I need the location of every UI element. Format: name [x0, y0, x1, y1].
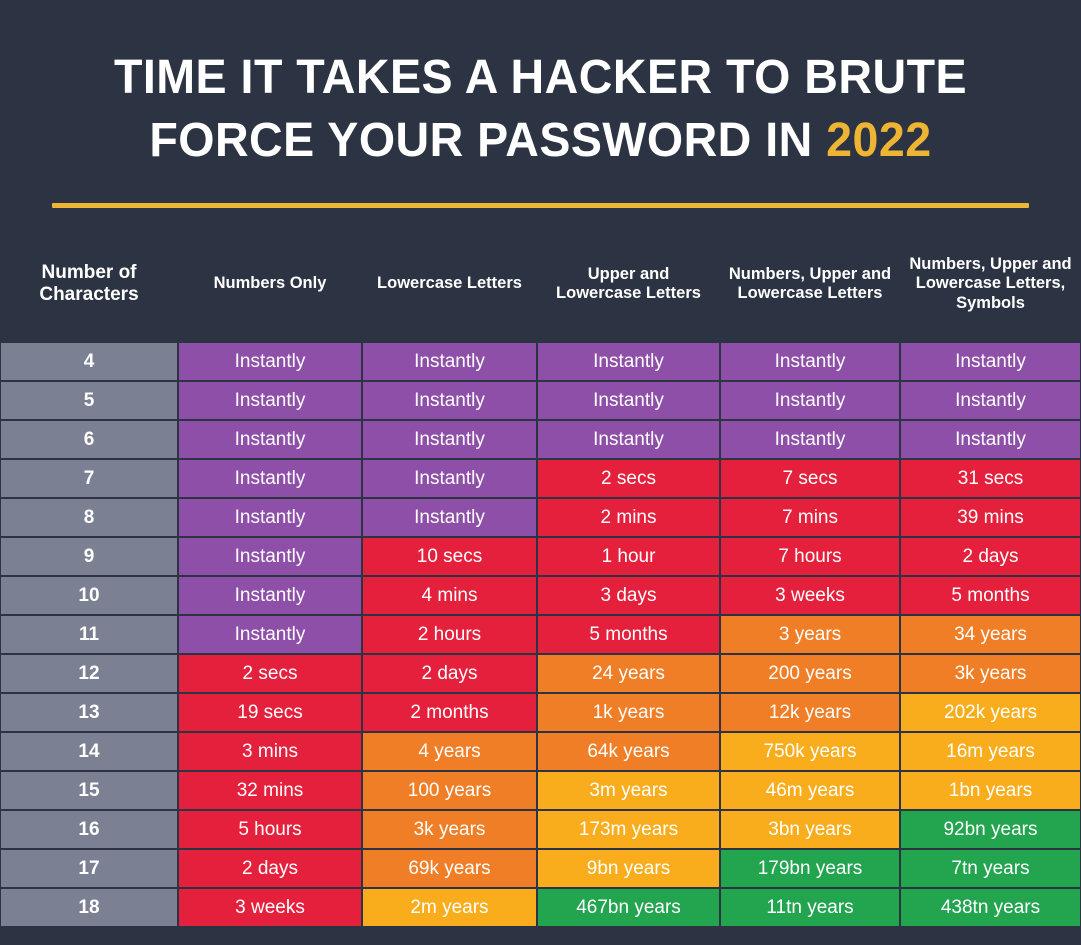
- table-row: 6InstantlyInstantlyInstantlyInstantlyIns…: [0, 420, 1081, 459]
- heatmap-cell: 2m years: [362, 888, 537, 927]
- page-title: TIME IT TAKES A HACKER TO BRUTE FORCE YO…: [0, 46, 1081, 173]
- row-label-4: 4: [0, 342, 178, 381]
- heatmap-cell: Instantly: [900, 420, 1081, 459]
- heatmap-cell: 2 mins: [537, 498, 720, 537]
- heatmap-cell: 200 years: [720, 654, 900, 693]
- heatmap-cell: 7 mins: [720, 498, 900, 537]
- heatmap-cell: Instantly: [178, 537, 362, 576]
- row-label-14: 14: [0, 732, 178, 771]
- table-row: 11Instantly2 hours5 months3 years34 year…: [0, 615, 1081, 654]
- row-label-12: 12: [0, 654, 178, 693]
- heatmap-cell: 5 months: [537, 615, 720, 654]
- heatmap-cell: 2 days: [178, 849, 362, 888]
- heatmap-cell: 16m years: [900, 732, 1081, 771]
- table-row: 5InstantlyInstantlyInstantlyInstantlyIns…: [0, 381, 1081, 420]
- table-row: 8InstantlyInstantly2 mins7 mins39 mins: [0, 498, 1081, 537]
- heatmap-cell: 2 secs: [178, 654, 362, 693]
- heatmap-cell: 4 mins: [362, 576, 537, 615]
- heatmap-cell: 3bn years: [720, 810, 900, 849]
- heatmap-cell: 64k years: [537, 732, 720, 771]
- title-divider: [52, 203, 1029, 208]
- heatmap-cell: Instantly: [720, 420, 900, 459]
- heatmap-cell: 7 secs: [720, 459, 900, 498]
- table-row: 1532 mins100 years3m years46m years1bn y…: [0, 771, 1081, 810]
- row-label-5: 5: [0, 381, 178, 420]
- heatmap-cell: Instantly: [178, 615, 362, 654]
- column-header-numbers-upper-lower-symbols: Numbers, Upper and Lowercase Letters, Sy…: [900, 232, 1081, 336]
- heatmap-cell: 1 hour: [537, 537, 720, 576]
- column-header-upper-lower: Upper and Lowercase Letters: [537, 232, 720, 336]
- row-label-11: 11: [0, 615, 178, 654]
- heatmap-cell: 1k years: [537, 693, 720, 732]
- column-header-lowercase: Lowercase Letters: [362, 232, 537, 336]
- table-row: 183 weeks2m years467bn years11tn years43…: [0, 888, 1081, 927]
- heatmap-cell: 31 secs: [900, 459, 1081, 498]
- heatmap-cell: 173m years: [537, 810, 720, 849]
- table-row: 7InstantlyInstantly2 secs7 secs31 secs: [0, 459, 1081, 498]
- heatmap-cell: Instantly: [900, 342, 1081, 381]
- heatmap-cell: 467bn years: [537, 888, 720, 927]
- heatmap-cell: 2 days: [362, 654, 537, 693]
- title-year: 2022: [826, 114, 932, 167]
- heatmap-table: 4InstantlyInstantlyInstantlyInstantlyIns…: [0, 342, 1081, 927]
- heatmap-cell: Instantly: [362, 420, 537, 459]
- heatmap-cell: 3k years: [362, 810, 537, 849]
- heatmap-cell: 46m years: [720, 771, 900, 810]
- heatmap-cell: 34 years: [900, 615, 1081, 654]
- heatmap-cell: 2 hours: [362, 615, 537, 654]
- heatmap-cell: Instantly: [362, 342, 537, 381]
- column-header-numbers-only: Numbers Only: [178, 232, 362, 336]
- heatmap-cell: 3 years: [720, 615, 900, 654]
- heatmap-cell: 3 days: [537, 576, 720, 615]
- heatmap-cell: Instantly: [178, 420, 362, 459]
- heatmap-cell: Instantly: [537, 420, 720, 459]
- heatmap-cell: 92bn years: [900, 810, 1081, 849]
- heatmap-cell: 100 years: [362, 771, 537, 810]
- heatmap-cell: 69k years: [362, 849, 537, 888]
- heatmap-cell: Instantly: [720, 342, 900, 381]
- heatmap-cell: Instantly: [362, 381, 537, 420]
- heatmap-cell: 2 days: [900, 537, 1081, 576]
- row-label-8: 8: [0, 498, 178, 537]
- heatmap-cell: Instantly: [178, 381, 362, 420]
- heatmap-cell: Instantly: [720, 381, 900, 420]
- table-row: 9Instantly10 secs1 hour7 hours2 days: [0, 537, 1081, 576]
- heatmap-cell: 2 secs: [537, 459, 720, 498]
- row-label-6: 6: [0, 420, 178, 459]
- heatmap-cell: Instantly: [537, 381, 720, 420]
- heatmap-cell: 3m years: [537, 771, 720, 810]
- heatmap-cell: Instantly: [362, 498, 537, 537]
- row-label-10: 10: [0, 576, 178, 615]
- heatmap-cell: 19 secs: [178, 693, 362, 732]
- heatmap-cell: Instantly: [362, 459, 537, 498]
- heatmap-cell: 3k years: [900, 654, 1081, 693]
- heatmap-cell: 5 hours: [178, 810, 362, 849]
- title-line-2-text: FORCE YOUR PASSWORD IN: [149, 114, 826, 167]
- title-line-1: TIME IT TAKES A HACKER TO BRUTE: [16, 46, 1065, 109]
- heatmap-cell: Instantly: [178, 576, 362, 615]
- heatmap-cell: Instantly: [178, 342, 362, 381]
- heatmap-cell: 7 hours: [720, 537, 900, 576]
- heatmap-cell: 202k years: [900, 693, 1081, 732]
- heatmap-cell: 10 secs: [362, 537, 537, 576]
- heatmap-cell: 438tn years: [900, 888, 1081, 927]
- column-header-numbers-upper-lower: Numbers, Upper and Lowercase Letters: [720, 232, 900, 336]
- heatmap-cell: 3 mins: [178, 732, 362, 771]
- table-header-row: Number of Characters Numbers Only Lowerc…: [0, 232, 1081, 336]
- infographic-root: HIVE SYSTEMS TIME IT TAKES A HACKER TO B…: [0, 0, 1081, 945]
- row-label-13: 13: [0, 693, 178, 732]
- row-label-15: 15: [0, 771, 178, 810]
- heatmap-cell: 5 months: [900, 576, 1081, 615]
- table-row: 172 days69k years9bn years179bn years7tn…: [0, 849, 1081, 888]
- heatmap-cell: 2 months: [362, 693, 537, 732]
- row-label-16: 16: [0, 810, 178, 849]
- heatmap-cell: 4 years: [362, 732, 537, 771]
- heatmap-cell: Instantly: [178, 459, 362, 498]
- heatmap-cell: 12k years: [720, 693, 900, 732]
- heatmap-cell: 179bn years: [720, 849, 900, 888]
- heatmap-cell: 750k years: [720, 732, 900, 771]
- row-label-7: 7: [0, 459, 178, 498]
- row-label-17: 17: [0, 849, 178, 888]
- table-row: 1319 secs2 months1k years12k years202k y…: [0, 693, 1081, 732]
- heatmap-cell: 11tn years: [720, 888, 900, 927]
- table-row: 10Instantly4 mins3 days3 weeks5 months: [0, 576, 1081, 615]
- table-row: 4InstantlyInstantlyInstantlyInstantlyIns…: [0, 342, 1081, 381]
- row-label-18: 18: [0, 888, 178, 927]
- table-row: 122 secs2 days24 years200 years3k years: [0, 654, 1081, 693]
- heatmap-cell: Instantly: [178, 498, 362, 537]
- title-line-2: FORCE YOUR PASSWORD IN 2022: [16, 109, 1065, 172]
- table-row: 165 hours3k years173m years3bn years92bn…: [0, 810, 1081, 849]
- column-header-characters: Number of Characters: [0, 232, 178, 336]
- heatmap-cell: 32 mins: [178, 771, 362, 810]
- heatmap-cell: 24 years: [537, 654, 720, 693]
- heatmap-cell: 7tn years: [900, 849, 1081, 888]
- heatmap-cell: Instantly: [900, 381, 1081, 420]
- row-label-9: 9: [0, 537, 178, 576]
- table-row: 143 mins4 years64k years750k years16m ye…: [0, 732, 1081, 771]
- heatmap-cell: 3 weeks: [720, 576, 900, 615]
- heatmap-cell: 3 weeks: [178, 888, 362, 927]
- heatmap-cell: 1bn years: [900, 771, 1081, 810]
- heatmap-cell: 9bn years: [537, 849, 720, 888]
- heatmap-cell: 39 mins: [900, 498, 1081, 537]
- heatmap-cell: Instantly: [537, 342, 720, 381]
